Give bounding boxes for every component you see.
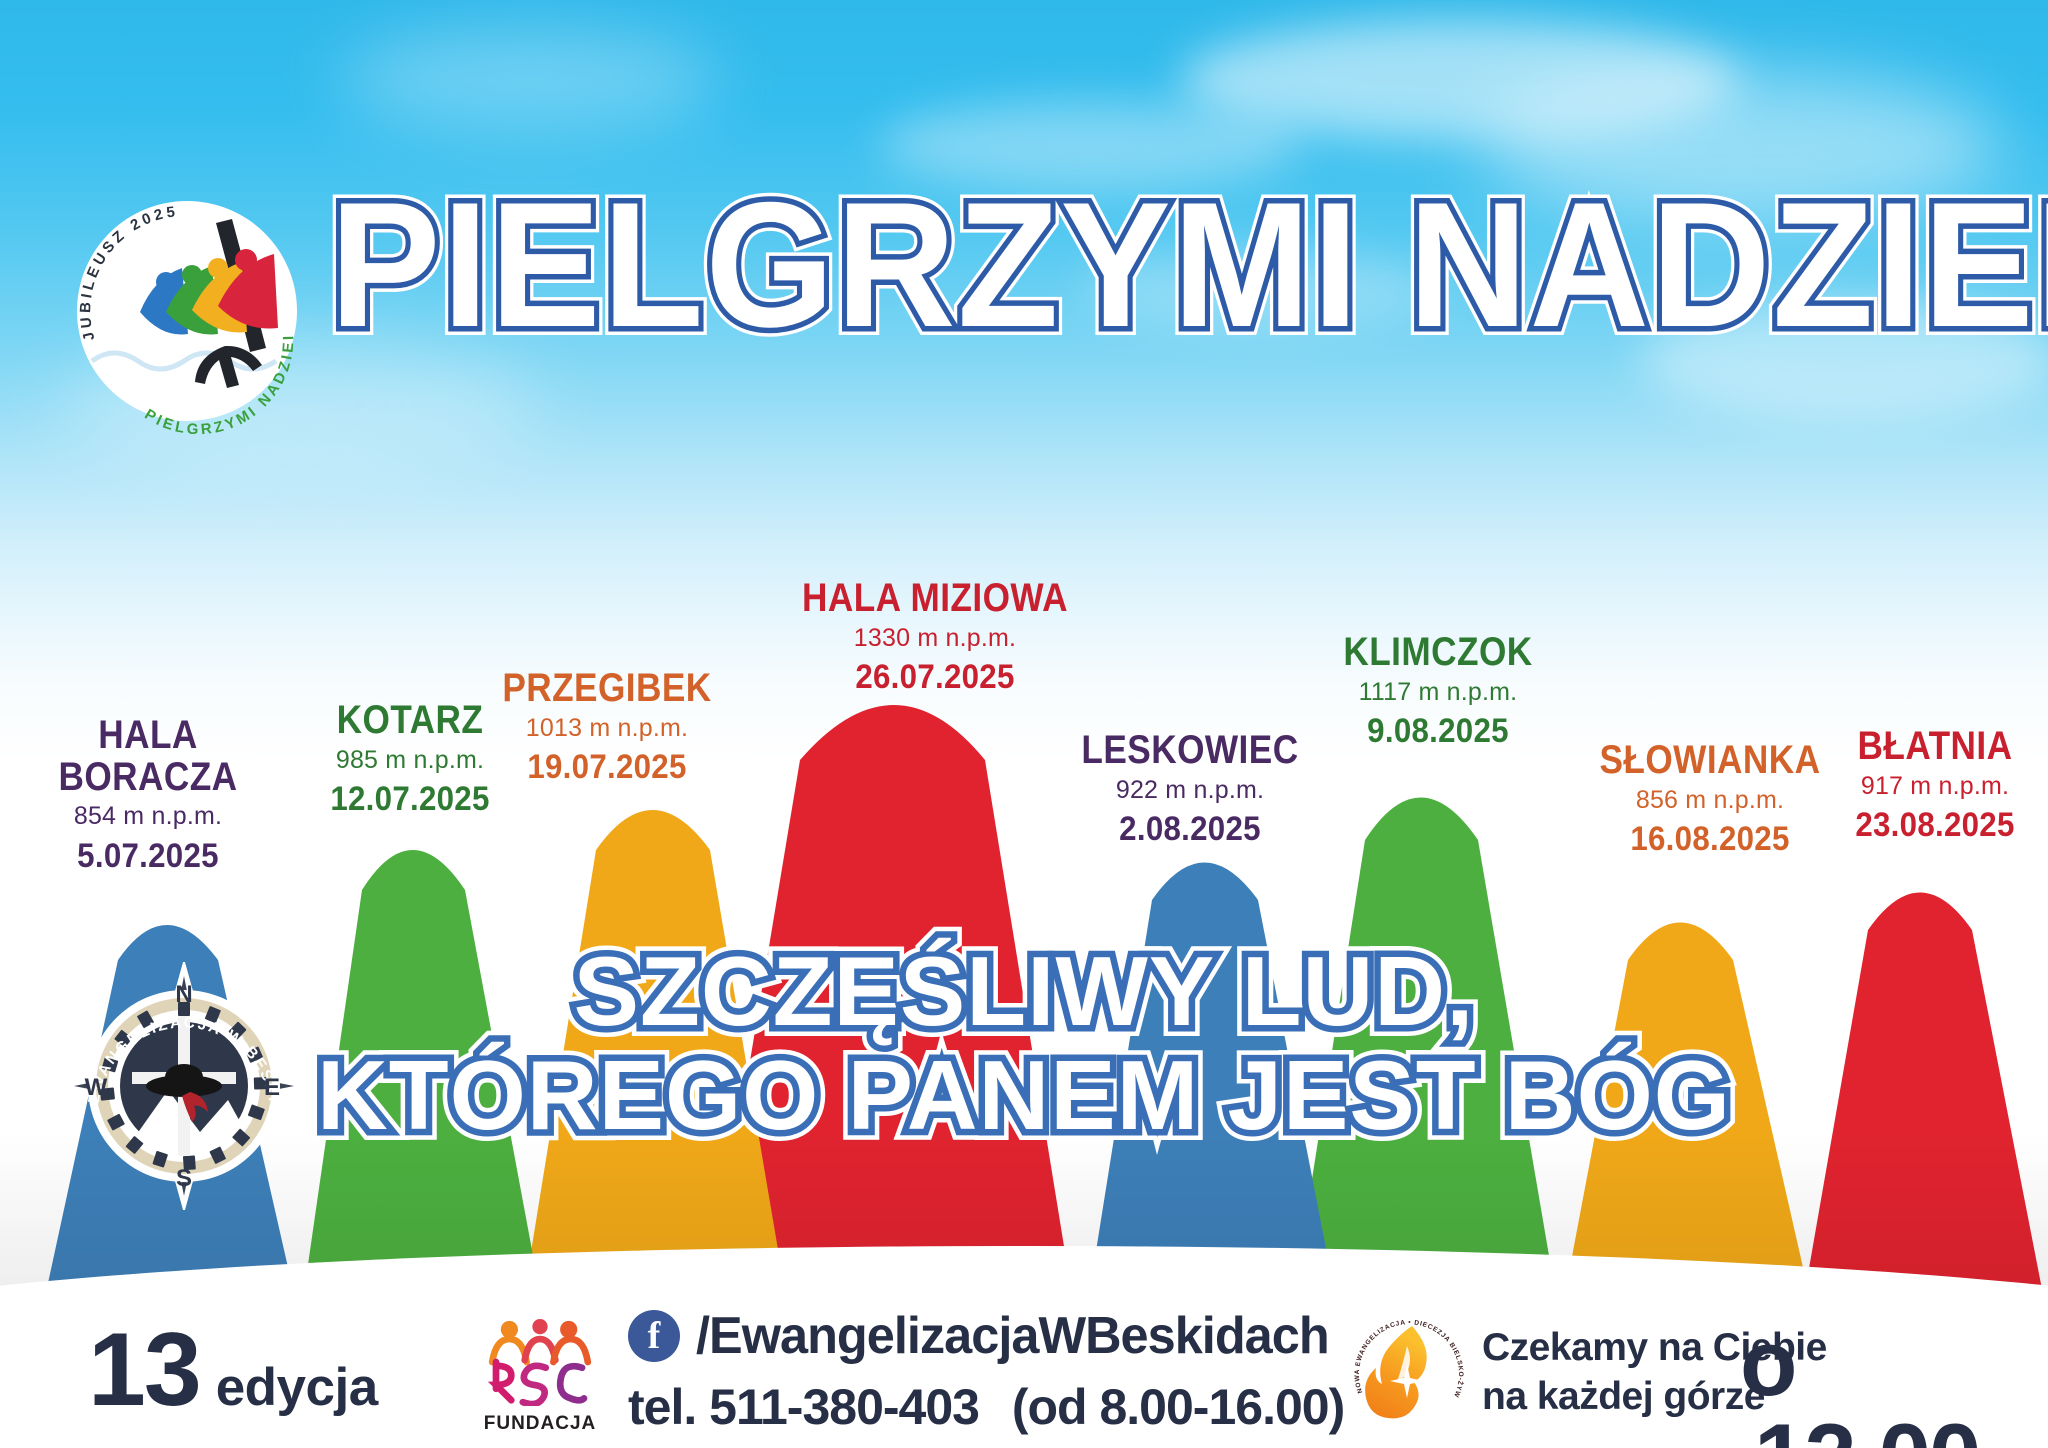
peak-name-line1: KLIMCZOK xyxy=(1306,632,1570,674)
peak-name-line2: BORACZA xyxy=(34,757,263,799)
edition-number: 13 xyxy=(88,1318,200,1422)
facebook-line[interactable]: f /EwangelizacjaWBeskidach xyxy=(628,1306,1348,1366)
cloud-shape xyxy=(340,30,720,130)
edition-block: 13 edycja xyxy=(88,1318,378,1422)
compass-south-label: S xyxy=(176,1165,192,1192)
peak-altitude: 917 m n.p.m. xyxy=(1810,768,2048,806)
peak-altitude: 922 m n.p.m. xyxy=(1030,772,1350,810)
edition-word: edycja xyxy=(216,1357,378,1418)
start-time-prefix: o xyxy=(1740,1310,1795,1415)
peak-date: 26.07.2025 xyxy=(765,657,1105,698)
slogan-line-1: SZCZĘŚLIWY LUD, xyxy=(0,940,2048,1044)
peak-date: 5.07.2025 xyxy=(28,836,267,877)
start-time-value: 12.00 xyxy=(1754,1404,1979,1448)
peak-label-klimczok: KLIMCZOK 1117 m n.p.m. 9.08.2025 xyxy=(1288,632,1588,752)
peak-date: 2.08.2025 xyxy=(1043,809,1337,850)
peak-label-hala-boracza: HALA BORACZA 854 m n.p.m. 5.07.2025 xyxy=(18,715,278,876)
phone-hours: (od 8.00-16.00) xyxy=(1012,1379,1344,1435)
phone-number[interactable]: tel. 511-380-403 xyxy=(628,1379,979,1435)
slogan: SZCZĘŚLIWY LUD, KTÓREGO PANEM JEST BÓG xyxy=(0,940,2048,1148)
peak-altitude: 1330 m n.p.m. xyxy=(750,620,1120,658)
slogan-line-2: KTÓREGO PANEM JEST BÓG xyxy=(0,1044,2048,1148)
peak-label-hala-miziowa: HALA MIZIOWA 1330 m n.p.m. 26.07.2025 xyxy=(750,578,1120,698)
facebook-handle[interactable]: /EwangelizacjaWBeskidach xyxy=(696,1306,1329,1366)
facebook-icon[interactable]: f xyxy=(628,1310,680,1362)
peak-name-line1: BŁATNIA xyxy=(1825,726,2045,768)
peak-label-blatnia: BŁATNIA 917 m n.p.m. 23.08.2025 xyxy=(1810,726,2048,846)
phone-line[interactable]: tel. 511-380-403 (od 8.00-16.00) xyxy=(628,1378,1348,1436)
peak-name-line1: PRZEGIBEK xyxy=(479,668,734,710)
peak-name-line1: HALA xyxy=(34,715,263,757)
facebook-icon-glyph: f xyxy=(648,1317,661,1355)
peak-date: 19.07.2025 xyxy=(474,747,741,788)
peak-date: 9.08.2025 xyxy=(1300,711,1576,752)
peak-label-przegibek: PRZEGIBEK 1013 m n.p.m. 19.07.2025 xyxy=(462,668,752,788)
peak-date: 23.08.2025 xyxy=(1820,805,2048,846)
peak-altitude: 1117 m n.p.m. xyxy=(1288,674,1588,712)
poster-canvas: JUBILEUSZ 2025 PIELGRZYMI NADZIEI PIELGR… xyxy=(0,0,2048,1448)
jubilee-logo: JUBILEUSZ 2025 PIELGRZYMI NADZIEI xyxy=(62,186,312,436)
start-time: o 12.00 xyxy=(1740,1316,2048,1448)
peak-altitude: 854 m n.p.m. xyxy=(18,798,278,836)
contact-block: f /EwangelizacjaWBeskidach tel. 511-380-… xyxy=(628,1306,1348,1436)
rsc-foundation-logo: FUNDACJA xyxy=(480,1318,600,1430)
diocese-logo: NOWA EWANGELIZACJA • DIECEZJA BIELSKO-ŻY… xyxy=(1350,1312,1468,1430)
peak-altitude: 1013 m n.p.m. xyxy=(462,710,752,748)
rsc-caption: FUNDACJA xyxy=(480,1413,600,1435)
peak-name-line1: HALA MIZIOWA xyxy=(772,578,1098,620)
page-title: PIELGRZYMI NADZIEI xyxy=(330,176,1911,354)
